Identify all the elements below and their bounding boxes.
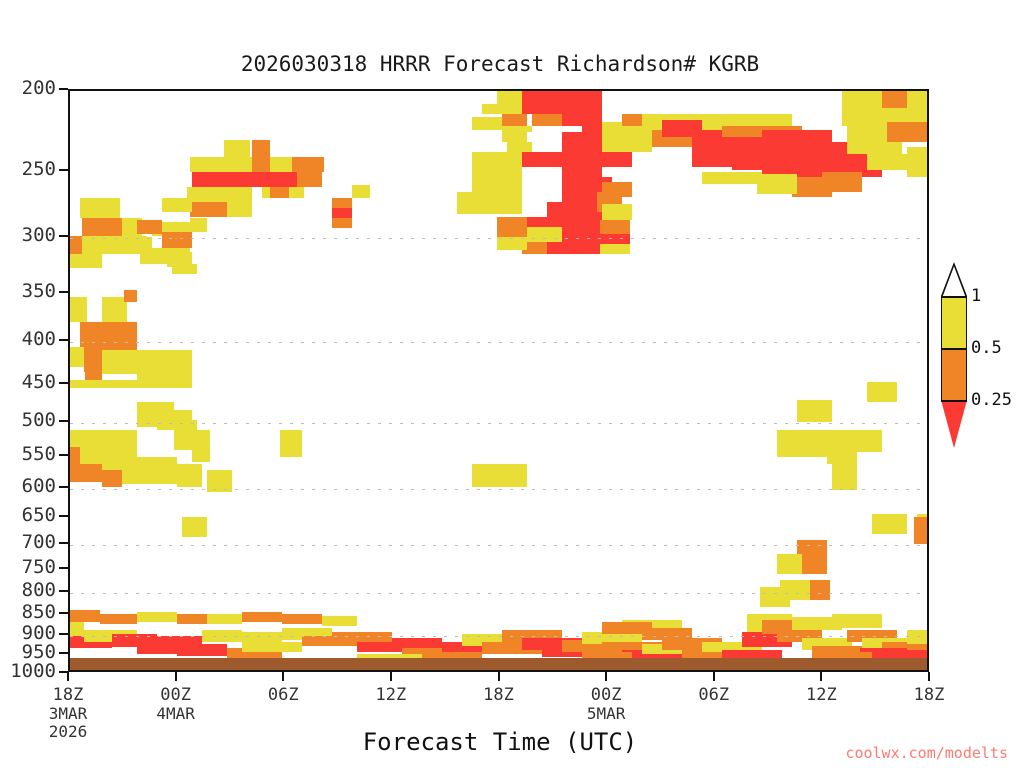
colorbar-divider	[941, 348, 967, 350]
colorbar-top-arrow	[941, 264, 967, 296]
x-axis-label: 00Z5MAR	[546, 686, 666, 723]
x-axis-label-time: 12Z	[376, 685, 407, 705]
x-axis-label: 06Z	[654, 686, 774, 705]
y-axis-tick	[59, 542, 68, 544]
y-axis-tick	[59, 590, 68, 592]
y-axis-label: 700	[0, 533, 56, 552]
y-axis-label: 800	[0, 581, 56, 600]
x-axis-tick	[713, 672, 715, 681]
x-axis-tick	[390, 672, 392, 681]
x-axis-label: 06Z	[223, 686, 343, 705]
y-axis-tick	[59, 382, 68, 384]
x-axis-label: 12Z	[331, 686, 451, 705]
y-axis-tick	[59, 652, 68, 654]
terrain-layer	[70, 91, 927, 670]
y-axis-label: 350	[0, 282, 56, 301]
y-axis-tick	[59, 88, 68, 90]
x-axis-tick	[282, 672, 284, 681]
terrain-fill	[70, 658, 927, 672]
y-axis-label: 550	[0, 445, 56, 464]
x-axis-label-time: 18Z	[914, 685, 945, 705]
chart-title: 2026030318 HRRR Forecast Richardson# KGR…	[0, 52, 1000, 76]
y-axis-label: 300	[0, 226, 56, 245]
x-axis-tick	[605, 672, 607, 681]
credit-text: coolwx.com/modelts	[845, 744, 1008, 762]
colorbar-divider	[941, 296, 967, 298]
colorbar-label: 0.25	[971, 392, 1012, 409]
y-axis-tick	[59, 420, 68, 422]
x-axis-label-time: 00Z	[591, 685, 622, 705]
colorbar-bottom-arrow	[941, 400, 967, 448]
y-axis-tick	[59, 454, 68, 456]
x-axis-label-time: 00Z	[160, 685, 191, 705]
x-axis-label-time: 18Z	[483, 685, 514, 705]
x-axis-label-date: 3MAR	[8, 705, 128, 723]
x-axis-label-date: 5MAR	[546, 705, 666, 723]
y-axis-tick	[59, 169, 68, 171]
colorbar-label: 0.5	[971, 340, 1002, 357]
y-axis-label: 750	[0, 558, 56, 577]
x-axis-label-time: 06Z	[698, 685, 729, 705]
x-axis-tick	[928, 672, 930, 681]
x-axis-tick	[175, 672, 177, 681]
y-axis-label: 250	[0, 160, 56, 179]
x-axis-label: 12Z	[761, 686, 881, 705]
y-axis-tick	[59, 567, 68, 569]
y-axis-tick	[59, 633, 68, 635]
x-axis-tick	[67, 672, 69, 681]
y-axis-label: 850	[0, 603, 56, 622]
y-axis-tick	[59, 339, 68, 341]
x-axis-label-date: 4MAR	[116, 705, 236, 723]
y-axis-tick	[59, 486, 68, 488]
colorbar: 10.50.25	[941, 296, 967, 454]
y-axis-label: 200	[0, 79, 56, 98]
colorbar-segment	[941, 348, 967, 400]
colorbar-label: 1	[971, 288, 981, 305]
x-axis-label: 00Z4MAR	[116, 686, 236, 723]
y-axis-label: 400	[0, 330, 56, 349]
plot-area	[68, 89, 929, 672]
x-axis-label: 18Z	[439, 686, 559, 705]
colorbar-segment	[941, 296, 967, 348]
y-axis-tick	[59, 612, 68, 614]
y-axis-label: 500	[0, 411, 56, 430]
x-axis-label-time: 12Z	[806, 685, 837, 705]
x-axis-tick	[498, 672, 500, 681]
y-axis-tick	[59, 291, 68, 293]
colorbar-divider	[941, 400, 967, 402]
y-axis-tick	[59, 515, 68, 517]
x-axis-label-time: 06Z	[268, 685, 299, 705]
y-axis-tick	[59, 235, 68, 237]
y-axis-label: 900	[0, 624, 56, 643]
x-axis-label-time: 18Z	[53, 685, 84, 705]
y-axis-label: 1000	[0, 662, 56, 681]
y-axis-label: 600	[0, 477, 56, 496]
y-axis-label: 650	[0, 506, 56, 525]
x-axis-label: 18Z	[869, 686, 989, 705]
y-axis-label: 450	[0, 373, 56, 392]
x-axis-tick	[820, 672, 822, 681]
